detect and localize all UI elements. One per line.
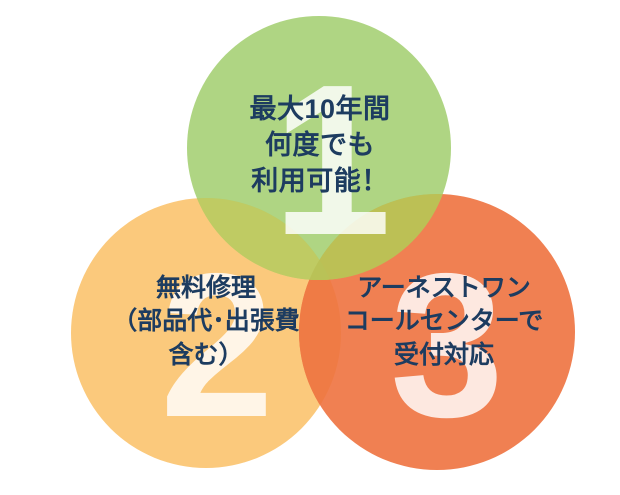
venn-label-green: 最大10年間 何度でも 利用可能！: [189, 92, 451, 200]
venn-circle-group: [71, 16, 575, 470]
venn-label-orange: アーネストワン コールセンターで 受付対応: [310, 272, 578, 372]
venn-label-green-line-1: 最大10年間: [189, 92, 451, 128]
venn-diagram: 1 2 3 最大10年間 何度でも 利用可能！ 無料修理 （部品代･出張費 含む…: [0, 0, 620, 495]
venn-label-yellow-line-2: （部品代･出張費: [72, 305, 340, 338]
venn-circles-layer: [0, 0, 620, 495]
venn-label-yellow: 無料修理 （部品代･出張費 含む）: [72, 272, 340, 372]
venn-label-orange-line-2: コールセンターで: [310, 305, 578, 338]
venn-label-yellow-line-3: 含む）: [72, 339, 340, 372]
venn-label-orange-line-1: アーネストワン: [310, 272, 578, 305]
venn-label-green-line-2: 何度でも: [189, 128, 451, 164]
venn-label-green-line-3: 利用可能！: [189, 164, 451, 200]
venn-label-orange-line-3: 受付対応: [310, 339, 578, 372]
venn-label-yellow-line-1: 無料修理: [72, 272, 340, 305]
